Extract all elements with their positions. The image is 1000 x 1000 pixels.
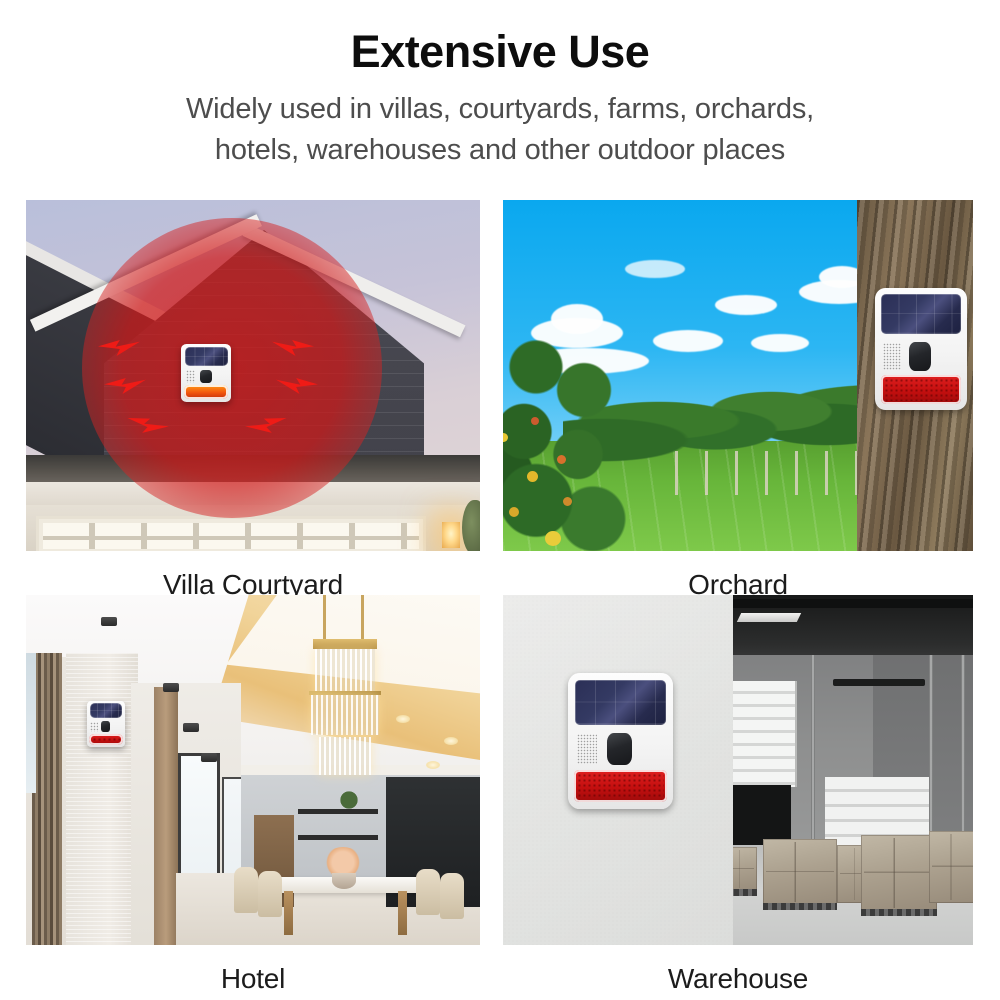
- pir-sensor-lens: [200, 370, 212, 384]
- cardboard-crate: [929, 831, 973, 903]
- wall-shelf: [298, 835, 378, 840]
- solar-panel: [881, 294, 960, 334]
- solar-panel: [575, 680, 665, 725]
- cloud: [715, 295, 777, 315]
- wall-conduit: [811, 655, 815, 853]
- dining-chair: [440, 873, 464, 919]
- siren-housing: [875, 288, 967, 410]
- chandelier-crystal-tier: [319, 737, 371, 775]
- side-window: [26, 653, 36, 793]
- subtitle-line-1: Widely used in villas, courtyards, farms…: [0, 89, 1000, 130]
- use-case-grid: Villa Courtyard: [0, 200, 1000, 990]
- speaker-grille: [883, 343, 900, 370]
- garage-door: [36, 516, 426, 551]
- solar-siren-device: [875, 288, 967, 410]
- pir-sensor-lens: [909, 342, 931, 371]
- subtitle-line-2: hotels, warehouses and other outdoor pla…: [0, 130, 1000, 171]
- wooden-pallet: [763, 903, 837, 910]
- siren-housing: [87, 701, 125, 747]
- chandelier-crystal-tier: [311, 695, 379, 735]
- wooden-pallet: [733, 889, 757, 896]
- alarm-glow-circle: [82, 218, 382, 518]
- apple-fruit: [545, 531, 561, 546]
- panel-caption-orchard: Orchard: [503, 551, 973, 599]
- panel-villa-courtyard[interactable]: Villa Courtyard: [26, 200, 480, 599]
- red-led-strobe-strip: [574, 770, 666, 803]
- red-led-strobe-strip: [89, 734, 122, 745]
- dining-chair: [416, 869, 440, 915]
- recessed-downlight-icon: [201, 753, 217, 762]
- hotel-photo: [26, 595, 480, 945]
- table-leg: [398, 891, 407, 935]
- dining-chair: [258, 871, 282, 917]
- roller-loading-door: [733, 681, 797, 787]
- chandelier-rod: [361, 595, 364, 643]
- shrub: [462, 500, 480, 551]
- solar-siren-device: [568, 673, 673, 809]
- panel-caption-hotel: Hotel: [26, 945, 480, 993]
- orchard-photo: [503, 200, 973, 551]
- chandelier-rod: [323, 595, 326, 643]
- panel-caption-warehouse: Warehouse: [503, 945, 973, 993]
- apple-tree-foreground: [503, 321, 641, 551]
- wall-shelf: [298, 809, 378, 814]
- solar-siren-device: [181, 344, 231, 402]
- pir-sensor-lens: [607, 733, 632, 766]
- villa-courtyard-photo: [26, 200, 480, 551]
- siren-housing: [181, 344, 231, 402]
- recessed-downlight-icon: [183, 723, 199, 732]
- door-track-rail: [833, 679, 925, 686]
- red-led-strobe-strip: [881, 375, 962, 404]
- red-led-strobe-strip: [184, 385, 228, 399]
- solar-siren-device: [87, 701, 125, 747]
- wall-column: [66, 653, 138, 945]
- dining-chair: [234, 867, 258, 913]
- warehouse-interior: [733, 595, 973, 945]
- grid-row-top: Villa Courtyard: [0, 200, 1000, 595]
- crystal-chandelier: [309, 595, 381, 791]
- panel-caption-villa: Villa Courtyard: [26, 551, 480, 599]
- pir-sensor-lens: [101, 721, 110, 732]
- speaker-grille: [186, 370, 196, 383]
- page-subtitle: Widely used in villas, courtyards, farms…: [0, 89, 1000, 171]
- recessed-downlight-icon: [444, 737, 458, 745]
- table-leg: [284, 891, 293, 935]
- warehouse-photo: [503, 595, 973, 945]
- wall-conduit: [961, 655, 965, 853]
- recessed-downlight-icon: [426, 761, 440, 769]
- apple-fruit: [531, 417, 539, 425]
- speaker-grille: [90, 722, 97, 732]
- apple-fruit: [563, 497, 572, 506]
- apple-fruit: [509, 507, 519, 517]
- recessed-downlight-icon: [101, 617, 117, 626]
- chandelier-crystal-tier: [315, 649, 375, 693]
- cardboard-crate: [733, 847, 757, 891]
- garage-window-panes: [43, 523, 419, 549]
- ceiling-beam: [733, 599, 973, 608]
- page-title: Extensive Use: [0, 28, 1000, 75]
- exterior-wall-lamp: [442, 522, 460, 548]
- potted-plant: [338, 791, 360, 809]
- wall-conduit: [929, 655, 933, 853]
- speaker-grille: [577, 734, 597, 764]
- solar-panel: [90, 703, 123, 718]
- solar-panel: [185, 347, 228, 366]
- apple-fruit: [527, 471, 538, 482]
- vase: [332, 873, 356, 889]
- page-header: Extensive Use Widely used in villas, cou…: [0, 0, 1000, 172]
- cloud: [625, 260, 685, 278]
- apple-fruit: [557, 455, 566, 464]
- panel-orchard[interactable]: Orchard: [503, 200, 973, 599]
- wood-slat-panel: [32, 653, 62, 945]
- panel-hotel[interactable]: Hotel: [26, 595, 480, 993]
- recessed-downlight-icon: [396, 715, 410, 723]
- cardboard-crate: [763, 839, 837, 905]
- apple-fruit: [503, 433, 508, 442]
- panel-warehouse[interactable]: Warehouse: [503, 595, 973, 993]
- chandelier-canopy: [313, 639, 377, 649]
- siren-housing: [568, 673, 673, 809]
- cardboard-crate: [861, 835, 937, 911]
- ceiling-light-strip: [737, 613, 801, 622]
- recessed-downlight-icon: [163, 683, 179, 692]
- wooden-pallet: [861, 909, 937, 916]
- door-frame: [154, 687, 178, 945]
- grid-row-bottom: Hotel: [0, 595, 1000, 990]
